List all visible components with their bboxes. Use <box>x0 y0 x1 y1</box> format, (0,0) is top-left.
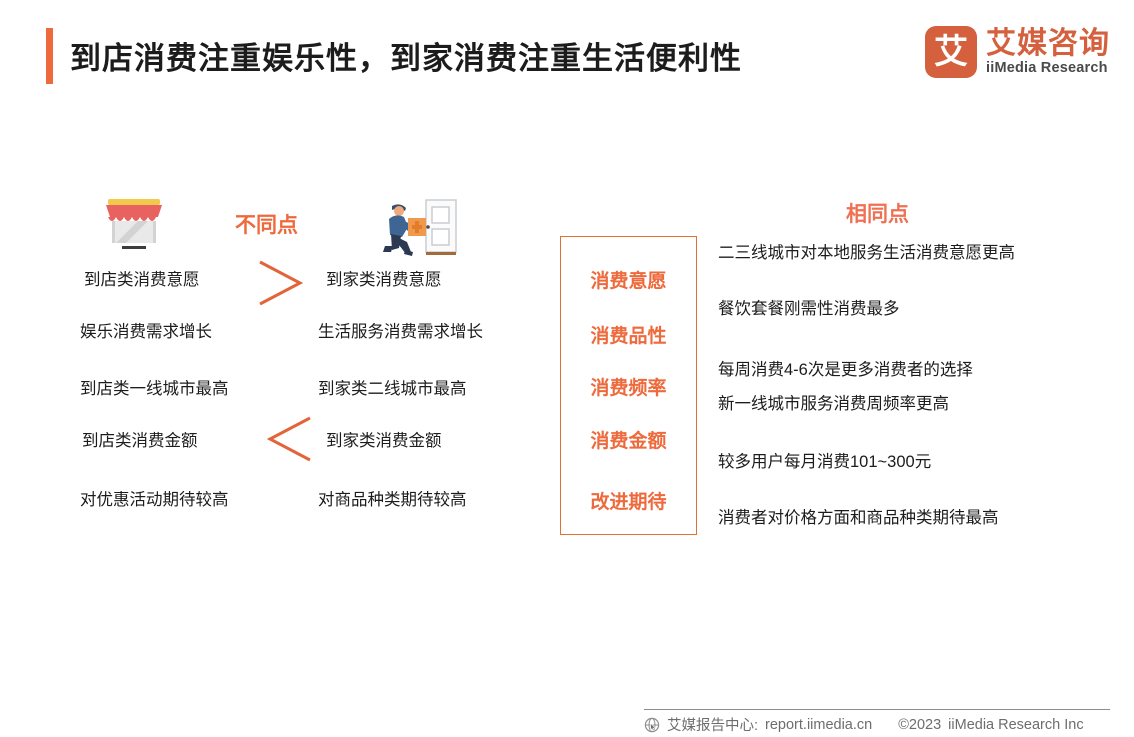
to-home-item-1: 生活服务消费需求增长 <box>318 324 483 341</box>
storefront-icon <box>96 196 172 254</box>
to-home-item-3: 到家类消费金额 <box>326 433 442 450</box>
dimension-item-4: 改进期待 <box>561 487 696 514</box>
footer: 艾媒报告中心: report.iimedia.cn ©2023 iiMedia … <box>644 714 1084 735</box>
dimension-item-2: 消费频率 <box>561 373 696 400</box>
similarity-item-2: 每周消费4-6次是更多消费者的选择 <box>718 362 973 379</box>
title-accent-bar <box>46 28 53 84</box>
dimension-box: 消费意愿 消费品性 消费频率 消费金额 改进期待 <box>560 236 697 535</box>
to-home-item-4: 对商品种类期待较高 <box>318 492 467 509</box>
to-store-item-2: 到店类一线城市最高 <box>80 381 229 398</box>
logo-name-en: iiMedia Research <box>986 61 1110 76</box>
less-than-chevron-icon <box>262 414 316 464</box>
dimension-item-0: 消费意愿 <box>561 266 696 293</box>
similarity-item-3: 新一线城市服务消费周频率更高 <box>718 396 949 413</box>
similarity-item-1: 餐饮套餐刚需性消费最多 <box>718 301 900 318</box>
dimension-item-3: 消费金额 <box>561 426 696 453</box>
similarity-item-5: 消费者对价格方面和商品种类期待最高 <box>718 510 999 527</box>
logo-name-cn: 艾媒咨询 <box>986 28 1110 60</box>
to-home-item-2: 到家类二线城市最高 <box>318 381 467 398</box>
globe-cursor-icon <box>644 717 660 733</box>
slide-canvas: 到店消费注重娱乐性，到家消费注重生活便利性 艾 艾媒咨询 iiMedia Res… <box>0 0 1134 737</box>
footer-report-center: 艾媒报告中心: <box>667 714 758 735</box>
to-store-item-0: 到店类消费意愿 <box>84 272 200 289</box>
logo-text: 艾媒咨询 iiMedia Research <box>986 28 1110 77</box>
page-title: 到店消费注重娱乐性，到家消费注重生活便利性 <box>70 33 742 78</box>
similarity-label: 相同点 <box>846 198 909 228</box>
delivery-person-icon <box>372 196 460 258</box>
logo-mark-icon: 艾 <box>925 26 977 78</box>
footer-url[interactable]: report.iimedia.cn <box>765 717 872 733</box>
footer-divider <box>644 709 1110 710</box>
greater-than-chevron-icon <box>256 258 310 308</box>
similarity-item-0: 二三线城市对本地服务生活消费意愿更高 <box>718 245 1015 262</box>
footer-company: iiMedia Research Inc <box>948 717 1083 733</box>
to-home-item-0: 到家类消费意愿 <box>326 272 442 289</box>
dimension-item-1: 消费品性 <box>561 321 696 348</box>
footer-copyright: ©2023 <box>898 717 941 733</box>
to-store-item-1: 娱乐消费需求增长 <box>80 324 212 341</box>
similarity-item-4: 较多用户每月消费101~300元 <box>718 454 931 471</box>
brand-logo: 艾 艾媒咨询 iiMedia Research <box>925 26 1110 78</box>
to-store-item-4: 对优惠活动期待较高 <box>80 492 229 509</box>
difference-label: 不同点 <box>235 209 298 239</box>
to-store-item-3: 到店类消费金额 <box>82 433 198 450</box>
